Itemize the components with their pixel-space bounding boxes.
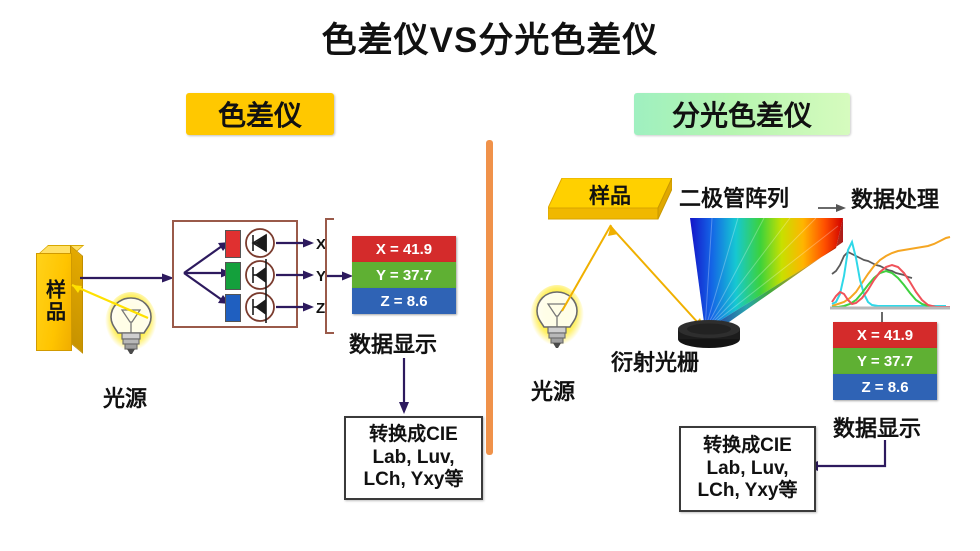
right-data-display-bars: X = 41.9 Y = 37.7 Z = 8.6 <box>833 322 937 400</box>
left-data-display-bars: X = 41.9 Y = 37.7 Z = 8.6 <box>352 236 456 314</box>
right-conversion-line-2: Lab, Luv, <box>698 458 798 480</box>
right-value-z: Z = 8.6 <box>833 374 937 400</box>
left-value-y: Y = 37.7 <box>352 262 456 288</box>
diagram-canvas: 色差仪VS分光色差仪 色差仪 分光色差仪 样品 光源 <box>0 0 980 551</box>
left-conversion-line-1: 转换成CIE <box>364 424 464 446</box>
left-conversion-line-3: LCh, Yxy等 <box>364 469 464 491</box>
right-conversion-line-3: LCh, Yxy等 <box>698 480 798 502</box>
left-conversion-line-2: Lab, Luv, <box>364 447 464 469</box>
right-conversion-line-1: 转换成CIE <box>698 435 798 457</box>
left-light-source-label: 光源 <box>103 381 147 413</box>
left-to-conversion-arrow <box>394 358 414 416</box>
page-title: 色差仪VS分光色差仪 <box>0 12 980 63</box>
left-panel-badge: 色差仪 <box>186 93 334 135</box>
right-conversion-box: 转换成CIE Lab, Luv, LCh, Yxy等 <box>679 426 816 512</box>
spectral-response-chart <box>830 232 952 314</box>
to-data-processing-arrow <box>818 196 848 218</box>
left-value-z: Z = 8.6 <box>352 288 456 314</box>
diffraction-grating-label: 衍射光栅 <box>611 345 699 377</box>
left-data-display-label: 数据显示 <box>349 327 437 359</box>
panel-divider <box>486 140 493 455</box>
right-panel-badge: 分光色差仪 <box>634 93 850 135</box>
diode-array-label: 二极管阵列 <box>679 181 789 213</box>
left-value-x: X = 41.9 <box>352 236 456 262</box>
right-sample-label: 样品 <box>560 180 660 210</box>
right-data-display-label: 数据显示 <box>833 411 921 443</box>
data-processing-label: 数据处理 <box>851 182 939 214</box>
left-output-bracket <box>322 216 356 336</box>
right-light-source-label: 光源 <box>531 374 575 406</box>
red-filter-chip <box>225 230 241 258</box>
right-value-y: Y = 37.7 <box>833 348 937 374</box>
left-sample-to-instrument-arrow <box>78 268 178 288</box>
blue-filter-chip <box>225 294 241 322</box>
green-filter-chip <box>225 262 241 290</box>
left-conversion-box: 转换成CIE Lab, Luv, LCh, Yxy等 <box>344 416 483 500</box>
right-value-x: X = 41.9 <box>833 322 937 348</box>
